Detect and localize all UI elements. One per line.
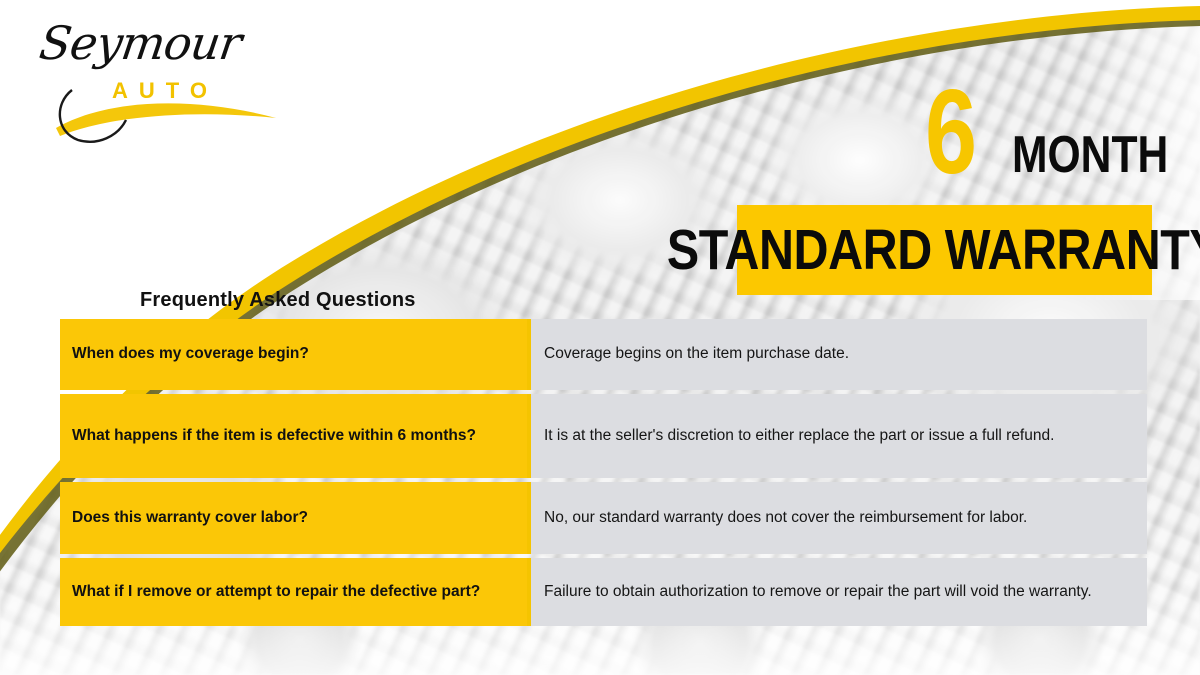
brand-sub-name: AUTO <box>112 78 218 104</box>
faq-question-text: What if I remove or attempt to repair th… <box>72 582 480 602</box>
warranty-title-block: STANDARD WARRANTY <box>737 205 1152 295</box>
faq-question-text: Does this warranty cover labor? <box>72 508 308 528</box>
table-row: Does this warranty cover labor? No, our … <box>60 482 1147 554</box>
table-row: What happens if the item is defective wi… <box>60 394 1147 478</box>
faq-answer-cell: Coverage begins on the item purchase dat… <box>527 319 1147 390</box>
table-row: What if I remove or attempt to repair th… <box>60 558 1147 626</box>
faq-question-cell: When does my coverage begin? <box>60 319 527 390</box>
table-row: When does my coverage begin? Coverage be… <box>60 319 1147 390</box>
faq-question-text: When does my coverage begin? <box>72 344 309 364</box>
warranty-slide: Seymour AUTO 6 MONTH STANDARD WARRANTY F… <box>0 0 1200 675</box>
faq-answer-text: Failure to obtain authorization to remov… <box>544 582 1133 603</box>
faq-question-text: What happens if the item is defective wi… <box>72 426 476 446</box>
faq-question-cell: What happens if the item is defective wi… <box>60 394 527 478</box>
faq-answer-text: No, our standard warranty does not cover… <box>544 508 1133 529</box>
faq-answer-cell: It is at the seller's discretion to eith… <box>527 394 1147 478</box>
brand-logo: Seymour AUTO <box>22 18 282 133</box>
faq-question-cell: What if I remove or attempt to repair th… <box>60 558 527 626</box>
duration-unit: MONTH <box>1012 129 1168 181</box>
faq-answer-cell: Failure to obtain authorization to remov… <box>527 558 1147 626</box>
faq-question-cell: Does this warranty cover labor? <box>60 482 527 554</box>
duration-number: 6 <box>925 72 976 192</box>
faq-answer-text: Coverage begins on the item purchase dat… <box>544 344 1133 365</box>
faq-heading: Frequently Asked Questions <box>140 289 416 312</box>
faq-answer-cell: No, our standard warranty does not cover… <box>527 482 1147 554</box>
faq-table: When does my coverage begin? Coverage be… <box>60 319 1147 626</box>
faq-answer-text: It is at the seller's discretion to eith… <box>544 426 1133 447</box>
warranty-title: STANDARD WARRANTY <box>667 222 1200 279</box>
brand-script-name: Seymour <box>36 16 244 70</box>
